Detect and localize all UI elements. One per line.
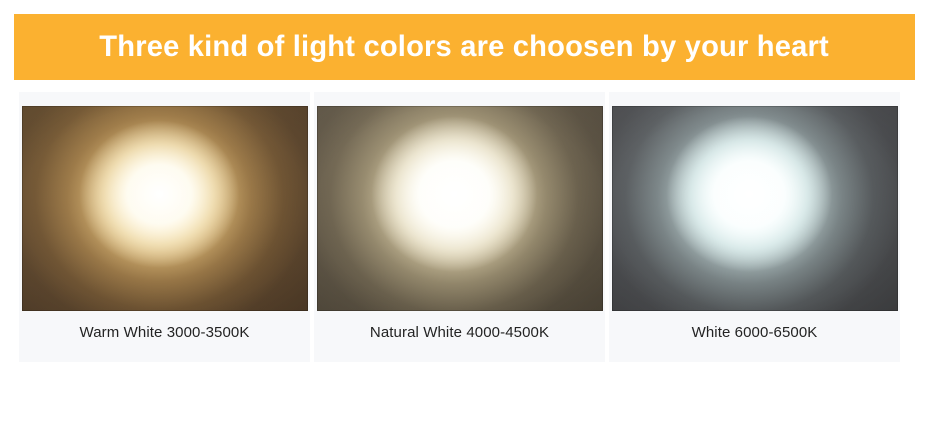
cool-white-light-image [612,106,898,311]
natural-white-light-image [317,106,603,311]
page-title: Three kind of light colors are choosen b… [100,32,830,62]
card-caption-natural-white: Natural White 4000-4500K [314,311,605,362]
image-border [612,106,898,311]
light-color-card-warm-white[interactable]: Warm White 3000-3500K [19,92,310,362]
page-root: Three kind of light colors are choosen b… [0,0,930,424]
image-border [22,106,308,311]
light-color-card-row: Warm White 3000-3500K Natural White 4000… [19,92,901,362]
card-caption-cool-white: White 6000-6500K [609,311,900,362]
warm-white-light-image [22,106,308,311]
card-caption-warm-white: Warm White 3000-3500K [19,311,310,362]
image-border [317,106,603,311]
light-color-card-natural-white[interactable]: Natural White 4000-4500K [314,92,605,362]
header-banner: Three kind of light colors are choosen b… [14,14,915,80]
light-color-card-cool-white[interactable]: White 6000-6500K [609,92,900,362]
